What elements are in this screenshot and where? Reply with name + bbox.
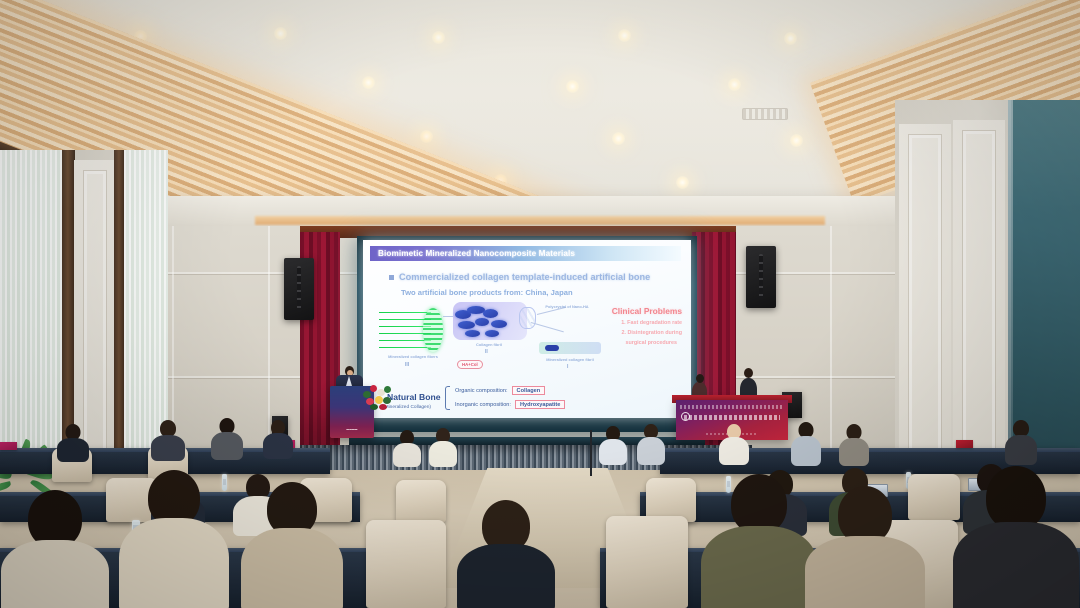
audience-member	[1004, 420, 1038, 464]
ceiling-downlight	[420, 130, 433, 143]
diagram-label-nano-ha: Polycrystal of Nano-HA	[529, 304, 605, 309]
diagram-label-mineralized-fibers: Mineralized collagen fibers	[381, 354, 445, 359]
person-head	[731, 474, 787, 534]
person-torso	[263, 433, 293, 459]
inorganic-composition-label: Inorganic composition:	[455, 402, 511, 408]
mineralized-collagen-fibril-graphic	[539, 342, 601, 354]
banner-text-line	[684, 415, 780, 420]
slide-bullet-text: Commercialized collagen template-induced…	[399, 272, 650, 282]
person-torso	[1005, 435, 1037, 465]
diagram-label-mineralized-fibril: Mineralized collagen fibril	[535, 357, 605, 362]
audience-member	[392, 430, 422, 466]
bullet-square-icon	[389, 275, 394, 280]
person-torso	[599, 439, 627, 465]
person-torso	[953, 522, 1079, 608]
ceiling-downlight	[618, 29, 631, 42]
ceiling-downlight	[432, 31, 445, 44]
ceiling-downlight	[362, 76, 375, 89]
slide-title-bar: Biomimetic Mineralized Nanocomposite Mat…	[370, 246, 681, 261]
name-card	[956, 440, 973, 448]
audience-member	[262, 420, 294, 458]
mineral-blob-cluster	[453, 304, 525, 340]
presentation-slide: Biomimetic Mineralized Nanocomposite Mat…	[363, 240, 691, 418]
wall-panel-line	[830, 226, 832, 476]
person-torso	[719, 437, 749, 465]
podium-flower-arrangement	[360, 381, 394, 411]
ceiling-downlight	[566, 80, 579, 93]
ceiling-downlight	[728, 78, 741, 91]
person-torso	[637, 437, 665, 465]
ceiling-downlight	[612, 132, 625, 145]
panelist-head	[696, 374, 704, 383]
diagram-pill-ha-col: HA+Col	[457, 360, 483, 369]
person-torso	[393, 443, 421, 467]
audience-member	[150, 420, 186, 458]
composition-row-inorganic: Inorganic composition: Hydroxyapatite	[455, 400, 565, 409]
audience-member-front	[0, 490, 110, 608]
person-torso	[805, 536, 925, 608]
slide-diagram: Mineralized collagen fibers Collagen fib…	[379, 302, 619, 374]
conference-hall-scene: Biomimetic Mineralized Nanocomposite Mat…	[0, 0, 1080, 608]
person-torso	[211, 432, 243, 460]
name-card	[0, 442, 17, 450]
collagen-fiber-bundle	[379, 308, 441, 352]
ceiling-downlight	[676, 176, 689, 189]
line-array-speaker-right	[746, 246, 776, 308]
person-torso	[57, 438, 89, 462]
audience-chair-front	[606, 516, 688, 608]
diagram-arrow	[531, 322, 564, 332]
person-torso	[151, 435, 185, 461]
person-torso	[119, 518, 229, 608]
person-torso	[241, 528, 343, 608]
audience-member-front	[240, 482, 344, 608]
natural-bone-label: Natural Bone	[387, 392, 440, 402]
audience-member	[210, 418, 244, 458]
audience-member-front	[456, 500, 556, 608]
person-head	[986, 466, 1046, 530]
audience-member-front	[804, 486, 926, 608]
soffit-glow-strip	[255, 216, 825, 225]
diagram-roman-2: II	[485, 349, 488, 355]
clinical-problems-heading: Clinical Problems	[612, 306, 682, 316]
diagram-label-collagen-fibril: Collagen fibril	[461, 342, 517, 347]
person-torso	[457, 544, 555, 608]
diagram-arrow	[443, 316, 453, 317]
ceiling-downlight	[790, 134, 803, 147]
audience-member-front	[700, 474, 818, 608]
audience-member-front	[118, 470, 230, 608]
audience-member	[598, 426, 628, 464]
person-torso	[701, 526, 817, 608]
line-array-speaker-left	[284, 258, 314, 320]
composition-row-organic: Organic composition: Collagen	[455, 386, 545, 395]
clinical-problem-item: 1. Fast degradation rate	[621, 320, 682, 326]
ceiling-downlight	[784, 32, 797, 45]
audience-chair-front	[366, 520, 446, 608]
panelist-head	[744, 368, 753, 378]
audience-chair	[396, 480, 446, 522]
audience-member	[56, 424, 90, 460]
organic-composition-value: Collagen	[512, 386, 546, 395]
nano-ha-crystal-icon	[519, 307, 536, 329]
audience-member	[428, 428, 458, 466]
clinical-problem-item: surgical procedures	[625, 340, 677, 346]
projection-screen: Biomimetic Mineralized Nanocomposite Mat…	[357, 236, 697, 432]
audience-member	[636, 424, 666, 464]
camera-tripod	[590, 430, 592, 476]
right-wall	[895, 100, 1080, 500]
audience-member	[838, 424, 870, 464]
ceiling-air-vent	[742, 108, 788, 120]
organic-composition-label: Organic composition:	[455, 388, 508, 394]
ceiling-downlight	[274, 27, 287, 40]
wall-panel	[953, 120, 1005, 494]
audience-member-front	[952, 466, 1080, 608]
slide-bullet-row: Commercialized collagen template-induced…	[389, 272, 650, 282]
diagram-roman-3: III	[405, 362, 409, 368]
audience-member	[790, 422, 822, 464]
composition-brace	[445, 386, 450, 410]
audience-member	[718, 424, 750, 464]
person-torso	[429, 441, 457, 467]
fiber-bundle-head	[423, 308, 443, 352]
diagram-roman-1: I	[567, 364, 568, 370]
podium-branding: ▬▬▬▬	[330, 428, 374, 431]
clinical-problem-item: 2. Disintegration during	[622, 330, 683, 336]
wall-panel	[899, 124, 951, 494]
person-torso	[839, 438, 869, 466]
person-torso	[1, 540, 109, 608]
banner-text-line	[680, 405, 784, 409]
person-torso	[791, 436, 821, 466]
slide-title: Biomimetic Mineralized Nanocomposite Mat…	[378, 249, 575, 258]
inorganic-composition-value: Hydroxyapatite	[515, 400, 565, 409]
slide-subline: Two artificial bone products from: China…	[401, 288, 573, 297]
